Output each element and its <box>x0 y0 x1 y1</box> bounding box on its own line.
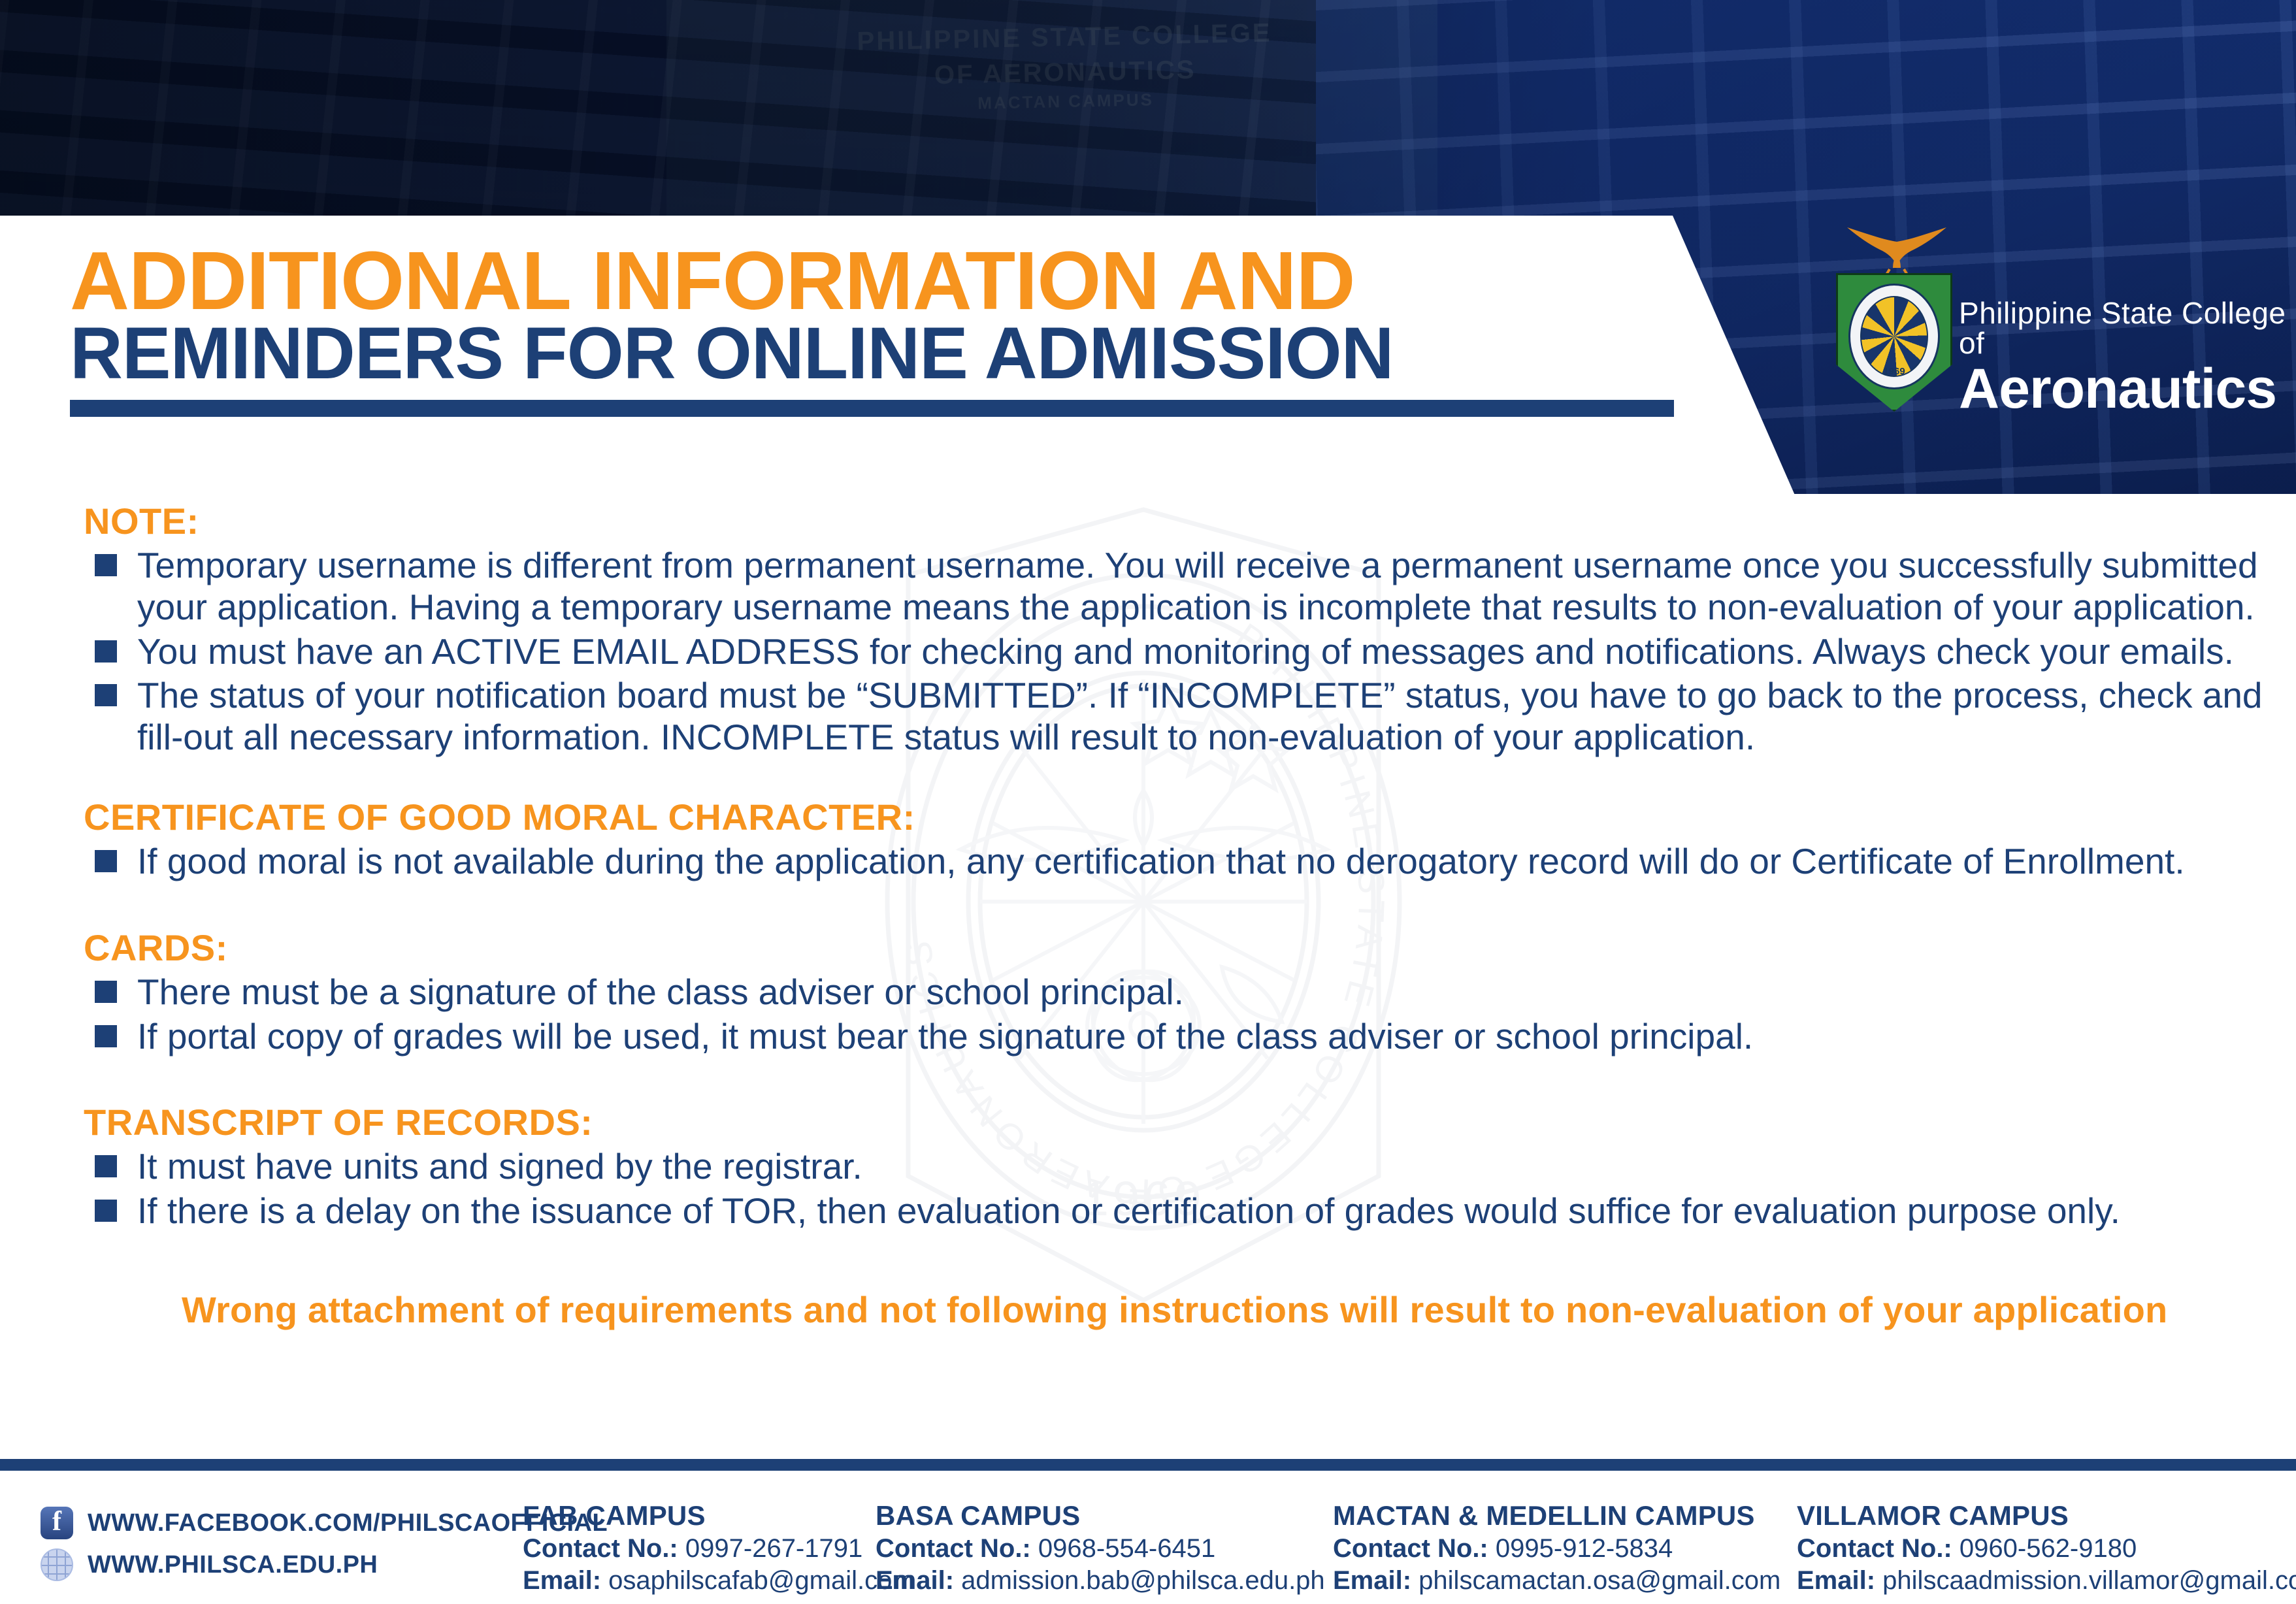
contact-value: 0968-554-6451 <box>1038 1534 1215 1563</box>
poster-root: PHILIPPINE STATE COLLEGE OF AERONAUTICS … <box>0 0 2296 1604</box>
footer: WWW.FACEBOOK.COM/PHILSCAOFFICIAL WWW.PHI… <box>0 1483 2296 1604</box>
footer-divider <box>0 1459 2296 1471</box>
footer-campus-contacts: FAB CAMPUS Contact No.: 0997-267-1791 Em… <box>523 1483 2296 1604</box>
section-list-note: Temporary username is different from per… <box>0 545 2296 759</box>
email-value[interactable]: osaphilscafab@gmail.com <box>608 1566 913 1595</box>
section-list-tor: It must have units and signed by the reg… <box>0 1146 2296 1232</box>
list-item-text: The status of your notification board mu… <box>137 675 2263 757</box>
campus-contact-line: Contact No.: 0968-554-6451 <box>876 1534 1317 1563</box>
email-value[interactable]: philscaadmission.villamor@gmail.com <box>1882 1566 2296 1595</box>
list-item: The status of your notification board mu… <box>0 675 2296 759</box>
spacer <box>0 759 2296 799</box>
title-underline-bar <box>70 400 1674 417</box>
email-label: Email: <box>1797 1566 1875 1595</box>
list-item: If good moral is not available during th… <box>0 841 2296 883</box>
campus-block-villamor: VILLAMOR CAMPUS Contact No.: 0960-562-91… <box>1797 1500 2293 1604</box>
list-item: It must have units and signed by the reg… <box>0 1146 2296 1188</box>
eagle-icon <box>1841 217 1952 280</box>
email-label: Email: <box>523 1566 601 1595</box>
crest-seal: 1969 <box>1848 284 1940 389</box>
list-item: There must be a signature of the class a… <box>0 972 2296 1013</box>
globe-icon <box>41 1548 73 1581</box>
bullet-square-icon <box>95 640 117 663</box>
list-item-text: If portal copy of grades will be used, i… <box>137 1016 1753 1056</box>
title-line-2: REMINDERS FOR ONLINE ADMISSION <box>70 316 1674 391</box>
bullet-square-icon <box>95 1155 117 1177</box>
campus-name: BASA CAMPUS <box>876 1500 1317 1531</box>
brand-line-1: Philippine State College of <box>1959 298 2296 358</box>
section-heading-cards: CARDS: <box>84 930 2296 966</box>
list-item-text: If good moral is not available during th… <box>137 841 2185 881</box>
section-heading-note: NOTE: <box>84 503 2296 540</box>
campus-contact-line: Contact No.: 0997-267-1791 <box>523 1534 860 1563</box>
list-item: You must have an ACTIVE EMAIL ADDRESS fo… <box>0 631 2296 673</box>
campus-email-line: Email: philscamactan.osa@gmail.com <box>1333 1566 1781 1596</box>
facebook-icon <box>41 1507 73 1539</box>
section-heading-tor: TRANSCRIPT OF RECORDS: <box>84 1104 2296 1141</box>
bullet-square-icon <box>95 1025 117 1047</box>
poster-body: NOTE: Temporary username is different fr… <box>0 503 2296 1331</box>
contact-label: Contact No.: <box>1333 1534 1488 1563</box>
title-line-1: ADDITIONAL INFORMATION AND <box>70 242 1674 320</box>
list-item-text: Temporary username is different from per… <box>137 545 2258 627</box>
campus-email-line: Email: osaphilscafab@gmail.com <box>523 1566 860 1596</box>
crest-seal-rays: 1969 <box>1860 296 1928 377</box>
email-label: Email: <box>1333 1566 1411 1595</box>
email-value[interactable]: admission.bab@philsca.edu.ph <box>961 1566 1325 1595</box>
philsca-crest: 1969 <box>1836 268 1944 431</box>
campus-name: VILLAMOR CAMPUS <box>1797 1500 2278 1531</box>
bullet-square-icon <box>95 850 117 872</box>
campus-block-fab: FAB CAMPUS Contact No.: 0997-267-1791 Em… <box>523 1500 876 1604</box>
institution-logo-lockup: 1969 Philippine State College of Aeronau… <box>1836 268 2296 431</box>
campus-block-mactan-medellin: MACTAN & MEDELLIN CAMPUS Contact No.: 09… <box>1333 1500 1797 1604</box>
contact-value: 0960-562-9180 <box>1960 1534 2137 1563</box>
contact-value: 0997-267-1791 <box>685 1534 862 1563</box>
section-heading-good-moral: CERTIFICATE OF GOOD MORAL CHARACTER: <box>84 799 2296 836</box>
contact-label: Contact No.: <box>523 1534 678 1563</box>
campus-name: MACTAN & MEDELLIN CAMPUS <box>1333 1500 1781 1531</box>
email-label: Email: <box>876 1566 954 1595</box>
section-list-cards: There must be a signature of the class a… <box>0 972 2296 1058</box>
bullet-square-icon <box>95 1200 117 1222</box>
campus-email-line: Email: admission.bab@philsca.edu.ph <box>876 1566 1317 1596</box>
list-item-text: If there is a delay on the issuance of T… <box>137 1190 2120 1231</box>
brand-wordmark: Philippine State College of Aeronautics <box>1959 298 2296 431</box>
bullet-square-icon <box>95 981 117 1003</box>
campus-email-line: Email: philscaadmission.villamor@gmail.c… <box>1797 1566 2278 1596</box>
poster-title: ADDITIONAL INFORMATION AND REMINDERS FOR… <box>70 242 1674 417</box>
list-item-text: You must have an ACTIVE EMAIL ADDRESS fo… <box>137 631 2234 672</box>
brand-line-2: Aeronautics <box>1959 361 2296 417</box>
section-list-good-moral: If good moral is not available during th… <box>0 841 2296 883</box>
list-item: If portal copy of grades will be used, i… <box>0 1016 2296 1058</box>
campus-contact-line: Contact No.: 0960-562-9180 <box>1797 1534 2278 1563</box>
list-item-text: There must be a signature of the class a… <box>137 972 1184 1012</box>
facebook-link[interactable]: WWW.FACEBOOK.COM/PHILSCAOFFICIAL <box>41 1507 523 1539</box>
bullet-square-icon <box>95 684 117 706</box>
campus-name: FAB CAMPUS <box>523 1500 860 1531</box>
spacer <box>0 1057 2296 1104</box>
warning-text: Wrong attachment of requirements and not… <box>182 1288 2296 1331</box>
list-item-text: It must have units and signed by the reg… <box>137 1146 862 1187</box>
bullet-square-icon <box>95 554 117 576</box>
website-url: WWW.PHILSCA.EDU.PH <box>88 1551 378 1579</box>
contact-value: 0995-912-5834 <box>1496 1534 1673 1563</box>
footer-social-links: WWW.FACEBOOK.COM/PHILSCAOFFICIAL WWW.PHI… <box>0 1483 523 1604</box>
list-item: Temporary username is different from per… <box>0 545 2296 629</box>
website-link[interactable]: WWW.PHILSCA.EDU.PH <box>41 1548 523 1581</box>
list-item: If there is a delay on the issuance of T… <box>0 1190 2296 1232</box>
campus-contact-line: Contact No.: 0995-912-5834 <box>1333 1534 1781 1563</box>
contact-label: Contact No.: <box>1797 1534 1952 1563</box>
campus-block-basa: BASA CAMPUS Contact No.: 0968-554-6451 E… <box>876 1500 1333 1604</box>
crest-seal-year: 1969 <box>1861 366 1927 377</box>
email-value[interactable]: philscamactan.osa@gmail.com <box>1419 1566 1780 1595</box>
spacer <box>0 883 2296 930</box>
contact-label: Contact No.: <box>876 1534 1031 1563</box>
